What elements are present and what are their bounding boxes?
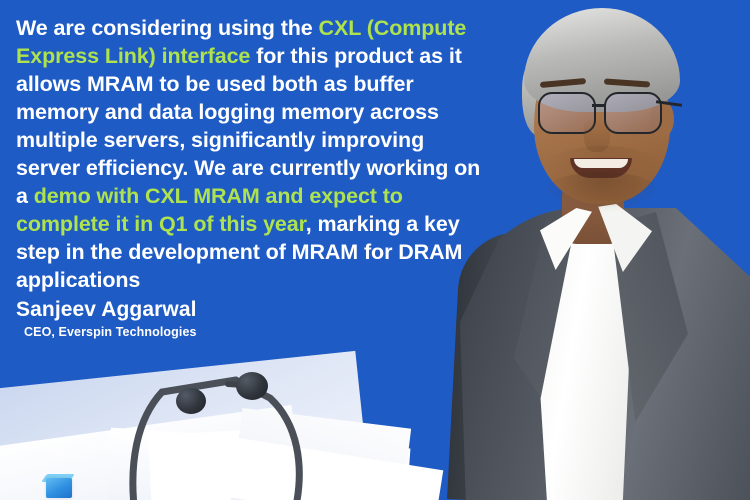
- jaw-shading: [544, 172, 660, 212]
- microphone-head-right: [236, 372, 268, 400]
- microphone-stems-icon: [110, 368, 330, 500]
- eyeglass-lens-right: [604, 92, 662, 134]
- speaker-title: CEO, Everspin Technologies: [24, 323, 197, 341]
- quote-plain-0: We are considering using the: [16, 16, 319, 40]
- blue-box: [46, 478, 72, 498]
- speaker-name: Sanjeev Aggarwal: [16, 297, 197, 323]
- eyeglass-bridge: [592, 104, 606, 107]
- microphone-head-left: [176, 388, 206, 414]
- attribution: Sanjeev Aggarwal CEO, Everspin Technolog…: [16, 297, 197, 341]
- microphone-group: [110, 368, 330, 500]
- quote-text: We are considering using the CXL (Comput…: [16, 14, 486, 294]
- nose: [584, 118, 610, 152]
- teeth: [574, 159, 628, 168]
- quote-card: We are considering using the CXL (Comput…: [0, 0, 750, 500]
